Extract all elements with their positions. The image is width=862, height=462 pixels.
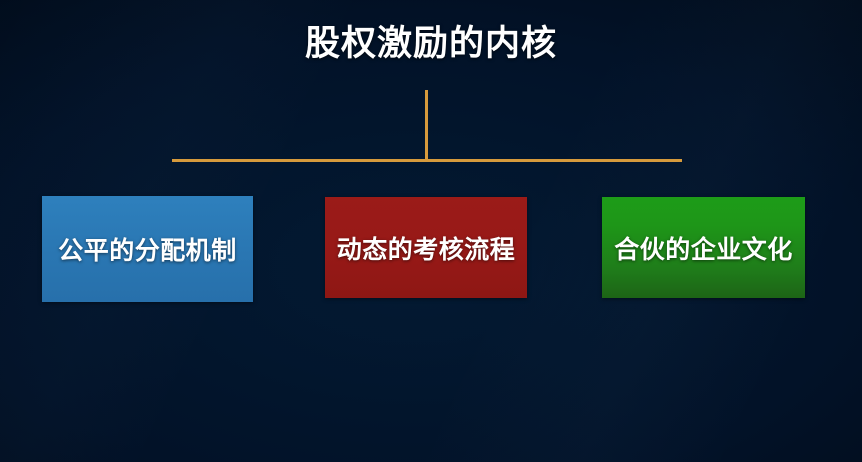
concept-card-label: 公平的分配机制 <box>58 231 237 267</box>
concept-card-dynamic-assessment[interactable]: 动态的考核流程 <box>325 197 527 298</box>
slide-title: 股权激励的内核 <box>0 22 862 66</box>
horizontal-connector-line <box>172 159 682 162</box>
concept-card-label: 动态的考核流程 <box>337 230 516 266</box>
concept-card-fair-distribution[interactable]: 公平的分配机制 <box>42 196 253 302</box>
concept-card-partnership-culture[interactable]: 合伙的企业文化 <box>602 197 805 298</box>
concept-card-label: 合伙的企业文化 <box>614 230 793 266</box>
presentation-slide: 股权激励的内核 公平的分配机制 动态的考核流程 合伙的企业文化 <box>0 0 862 462</box>
vertical-connector-line <box>425 90 428 162</box>
